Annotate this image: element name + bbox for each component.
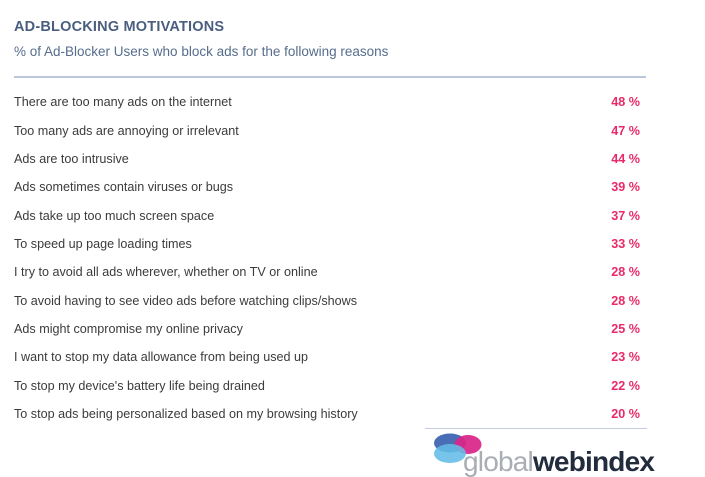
motivations-list: There are too many ads on the internet48… [14, 88, 641, 428]
row-label: I want to stop my data allowance from be… [14, 349, 308, 365]
row-label: Too many ads are annoying or irrelevant [14, 123, 239, 139]
table-row: Ads might compromise my online privacy25… [14, 315, 641, 343]
row-label: To stop ads being personalized based on … [14, 406, 358, 422]
table-row: To speed up page loading times33 % [14, 230, 641, 258]
logo-text-global: global [463, 446, 533, 477]
page-subtitle: % of Ad-Blocker Users who block ads for … [14, 42, 674, 61]
row-percentage: 48 % [611, 94, 641, 110]
row-label: There are too many ads on the internet [14, 94, 232, 110]
row-label: To avoid having to see video ads before … [14, 293, 357, 309]
table-row: Ads sometimes contain viruses or bugs39 … [14, 173, 641, 201]
row-label: To stop my device's battery life being d… [14, 378, 265, 394]
row-percentage: 33 % [611, 236, 641, 252]
row-percentage: 28 % [611, 293, 641, 309]
row-label: Ads take up too much screen space [14, 208, 214, 224]
row-percentage: 47 % [611, 123, 641, 139]
table-row: There are too many ads on the internet48… [14, 88, 641, 116]
header: AD-BLOCKING MOTIVATIONS % of Ad-Blocker … [14, 18, 674, 61]
row-percentage: 23 % [611, 349, 641, 365]
table-row: To stop my device's battery life being d… [14, 371, 641, 399]
footer-divider [425, 428, 647, 429]
table-row: To stop ads being personalized based on … [14, 400, 641, 428]
row-label: Ads might compromise my online privacy [14, 321, 243, 337]
page-title: AD-BLOCKING MOTIVATIONS [14, 18, 674, 36]
logo-text-webindex: webindex [533, 446, 654, 477]
row-percentage: 22 % [611, 378, 641, 394]
row-label: I try to avoid all ads wherever, whether… [14, 264, 318, 280]
row-label: To speed up page loading times [14, 236, 192, 252]
row-percentage: 25 % [611, 321, 641, 337]
table-row: I try to avoid all ads wherever, whether… [14, 258, 641, 286]
infographic-page: AD-BLOCKING MOTIVATIONS % of Ad-Blocker … [0, 0, 705, 476]
row-percentage: 20 % [611, 406, 641, 422]
row-percentage: 39 % [611, 179, 641, 195]
table-row: I want to stop my data allowance from be… [14, 343, 641, 371]
row-percentage: 37 % [611, 208, 641, 224]
row-percentage: 44 % [611, 151, 641, 167]
row-percentage: 28 % [611, 264, 641, 280]
row-label: Ads sometimes contain viruses or bugs [14, 179, 233, 195]
logo-wordmark: globalwebindex [463, 448, 654, 476]
table-row: Ads take up too much screen space37 % [14, 201, 641, 229]
table-row: To avoid having to see video ads before … [14, 286, 641, 314]
table-row: Ads are too intrusive44 % [14, 145, 641, 173]
header-divider [14, 76, 646, 78]
row-label: Ads are too intrusive [14, 151, 129, 167]
globalwebindex-logo: globalwebindex [425, 430, 705, 476]
table-row: Too many ads are annoying or irrelevant4… [14, 116, 641, 144]
